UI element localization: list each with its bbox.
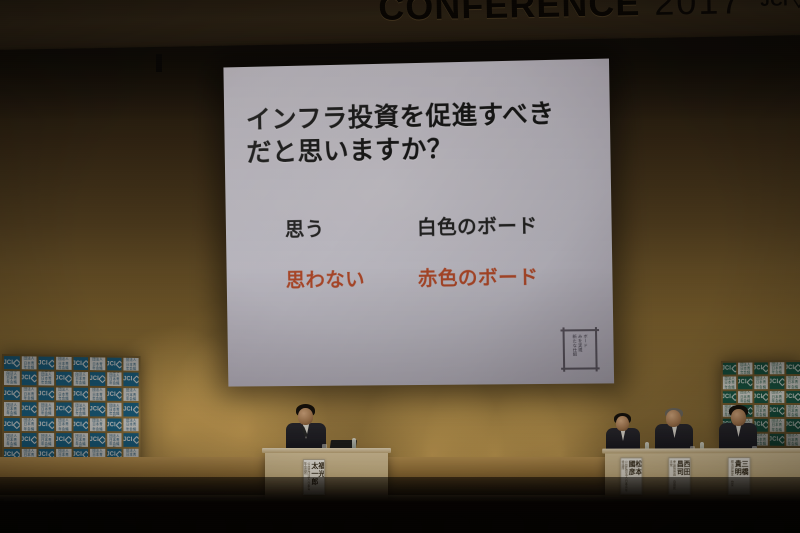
backdrop-jci-logo-tile: JCI	[4, 387, 19, 401]
answer-label-no: 思わない	[286, 262, 419, 293]
backdrop-jci-logo-tile: JCI	[4, 356, 19, 370]
diamond-emblem-icon	[82, 360, 88, 368]
backdrop-jci-logo-tile: JCI	[107, 358, 122, 371]
diamond-emblem-icon	[65, 405, 71, 413]
backdrop-jci-logo-tile: JCI	[723, 363, 737, 375]
backdrop-sponsor-tile: 公益社団法人 日本青年会議所	[4, 402, 19, 416]
backdrop-jci-logo-tile: JCI	[73, 418, 88, 431]
backdrop-sponsor-tile: 公益社団法人 日本青年会議所	[754, 377, 768, 389]
diamond-emblem-icon	[13, 359, 20, 367]
backdrop-sponsor-tile: 公益社団法人 日本青年会議所	[39, 403, 54, 416]
diamond-emblem-icon	[762, 393, 768, 401]
diamond-emblem-icon	[731, 365, 737, 373]
backdrop-sponsor-tile: 公益社団法人 日本青年会議所	[124, 388, 139, 401]
backdrop-sponsor-tile: 公益社団法人 日本青年会議所	[770, 391, 784, 403]
backdrop-sponsor-tile: 公益社団法人 日本青年会議所	[107, 403, 122, 416]
diamond-emblem-icon	[13, 390, 20, 398]
backdrop-jci-logo-tile: JCI	[107, 418, 122, 431]
diamond-emblem-icon	[48, 420, 54, 428]
board-label-red: 赤色のボード	[418, 260, 539, 291]
projection-screen: インフラ投資を促進すべき だと思いますか？ 思う 白色のボード 思わない 赤色の…	[223, 59, 614, 387]
backdrop-sponsor-tile: 公益社団法人 日本青年会議所	[73, 433, 88, 446]
plaque-column-2: みを実現	[578, 334, 583, 365]
jci-logo: JCI	[760, 0, 800, 11]
backdrop-jci-logo-tile: JCI	[39, 387, 54, 400]
lighting-truss	[156, 54, 162, 72]
backdrop-sponsor-tile: 公益社団法人 日本青年会議所	[21, 418, 36, 431]
backdrop-sponsor-tile: 公益社団法人 日本青年会議所	[73, 403, 88, 416]
backdrop-sponsor-tile: 公益社団法人 日本青年会議所	[738, 363, 752, 375]
backdrop-sponsor-tile: 公益社団法人 日本青年会議所	[754, 405, 768, 417]
diamond-emblem-icon	[731, 393, 737, 401]
diamond-emblem-icon	[794, 393, 800, 401]
backdrop-sponsor-tile: 公益社団法人 日本青年会議所	[4, 433, 19, 446]
slide-question: インフラ投資を促進すべき だと思いますか？	[246, 97, 595, 169]
conference-stage-photo: CONFERENCE 2017 JCI インフラ投資を促進すべき だと思いますか…	[0, 0, 800, 533]
backdrop-sponsor-tile: 公益社団法人 日本青年会議所	[56, 357, 71, 371]
slide-question-line1: インフラ投資を促進すべき	[246, 97, 594, 137]
diamond-emblem-icon	[13, 420, 20, 428]
diamond-emblem-icon	[791, 0, 800, 8]
diamond-emblem-icon	[48, 359, 54, 367]
slide-question-line2: だと思いますか？	[246, 130, 594, 169]
diamond-emblem-icon	[116, 421, 122, 429]
backdrop-jci-logo-tile: JCI	[754, 391, 768, 403]
backdrop-jci-logo-tile: JCI	[39, 357, 54, 371]
audience-silhouettes	[0, 477, 800, 533]
backdrop-jci-logo-tile: JCI	[786, 391, 800, 403]
backdrop-sponsor-tile: 公益社団法人 日本青年会議所	[39, 372, 54, 386]
backdrop-sponsor-tile: 公益社団法人 日本青年会議所	[90, 388, 105, 401]
backdrop-sponsor-tile: 公益社団法人 日本青年会議所	[90, 418, 105, 431]
diamond-emblem-icon	[82, 421, 88, 429]
banner-year: 2017	[654, 0, 743, 24]
diamond-emblem-icon	[778, 378, 784, 386]
backdrop-jci-logo-tile: JCI	[90, 433, 105, 446]
backdrop-jci-logo-tile: JCI	[21, 433, 36, 446]
backdrop-jci-logo-tile: JCI	[754, 362, 768, 374]
slide-plaque-logo: ボード みを実現 新たな仕組	[562, 327, 597, 372]
backdrop-jci-logo-tile: JCI	[770, 405, 784, 417]
backdrop-jci-logo-tile: JCI	[56, 433, 71, 446]
diamond-emblem-icon	[82, 390, 88, 398]
backdrop-sponsor-tile: 公益社団法人 日本青年会議所	[73, 372, 88, 385]
diamond-emblem-icon	[116, 390, 122, 398]
diamond-emblem-icon	[99, 436, 105, 444]
diamond-emblem-icon	[762, 421, 768, 429]
backdrop-jci-logo-tile: JCI	[21, 402, 36, 415]
diamond-emblem-icon	[30, 374, 36, 382]
diamond-emblem-icon	[30, 436, 36, 444]
backdrop-sponsor-tile: 公益社団法人 日本青年会議所	[124, 418, 139, 431]
diamond-emblem-icon	[99, 375, 105, 383]
backdrop-jci-logo-tile: JCI	[124, 403, 139, 416]
backdrop-jci-logo-tile: JCI	[4, 418, 19, 431]
plaque-column-3: 新たな仕組	[572, 334, 577, 365]
jci-logo-text: JCI	[760, 0, 788, 11]
backdrop-jci-logo-tile: JCI	[107, 388, 122, 401]
backdrop-sponsor-tile: 公益社団法人 日本青年会議所	[738, 391, 752, 403]
backdrop-jci-logo-tile: JCI	[770, 376, 784, 388]
backdrop-sponsor-tile: 公益社団法人 日本青年会議所	[723, 377, 737, 389]
backdrop-jci-logo-tile: JCI	[21, 372, 36, 386]
diamond-emblem-icon	[132, 406, 138, 414]
diamond-emblem-icon	[746, 379, 752, 387]
diamond-emblem-icon	[794, 364, 800, 372]
backdrop-jci-logo-tile: JCI	[723, 391, 737, 403]
diamond-emblem-icon	[778, 407, 784, 415]
backdrop-sponsor-tile: 公益社団法人 日本青年会議所	[786, 434, 800, 446]
backdrop-jci-logo-tile: JCI	[770, 433, 784, 445]
banner-title: CONFERENCE	[378, 0, 641, 29]
diamond-emblem-icon	[132, 375, 138, 383]
backdrop-jci-logo-tile: JCI	[73, 357, 88, 370]
backdrop-jci-logo-tile: JCI	[90, 403, 105, 416]
diamond-emblem-icon	[116, 360, 122, 368]
diamond-emblem-icon	[48, 390, 54, 398]
backdrop-sponsor-tile: 公益社団法人 日本青年会議所	[770, 362, 784, 374]
backdrop-jci-logo-tile: JCI	[786, 419, 800, 431]
backdrop-sponsor-tile: 公益社団法人 日本青年会議所	[4, 371, 19, 385]
diamond-emblem-icon	[794, 421, 800, 429]
diamond-emblem-icon	[132, 436, 138, 444]
backdrop-sponsor-tile: 公益社団法人 日本青年会議所	[21, 356, 36, 370]
backdrop-sponsor-tile: 公益社団法人 日本青年会議所	[56, 418, 71, 431]
backdrop-sponsor-tile: 公益社団法人 日本青年会議所	[107, 373, 122, 386]
backdrop-jci-logo-tile: JCI	[124, 373, 139, 386]
diamond-emblem-icon	[99, 405, 105, 413]
answer-option-no: 思わない 赤色のボード	[286, 260, 597, 293]
slide-answer-options: 思う 白色のボード 思わない 赤色のボード	[285, 208, 597, 314]
backdrop-jci-logo-tile: JCI	[90, 373, 105, 386]
board-label-white: 白色のボード	[417, 209, 538, 240]
backdrop-sponsor-tile: 公益社団法人 日本青年会議所	[786, 405, 800, 417]
backdrop-jci-logo-tile: JCI	[786, 362, 800, 374]
backdrop-sponsor-tile: 公益社団法人 日本青年会議所	[90, 357, 105, 370]
backdrop-sponsor-tile: 公益社団法人 日本青年会議所	[56, 387, 71, 400]
backdrop-jci-logo-tile: JCI	[124, 433, 139, 446]
backdrop-sponsor-tile: 公益社団法人 日本青年会議所	[21, 387, 36, 401]
backdrop-jci-logo-tile: JCI	[73, 388, 88, 401]
diamond-emblem-icon	[30, 405, 36, 413]
plaque-column-1: ボード	[583, 334, 588, 365]
backdrop-jci-logo-tile: JCI	[39, 418, 54, 431]
backdrop-sponsor-tile: 公益社団法人 日本青年会議所	[124, 358, 139, 371]
backdrop-jci-logo-tile: JCI	[738, 377, 752, 389]
backdrop-sponsor-tile: 公益社団法人 日本青年会議所	[107, 433, 122, 446]
backdrop-jci-logo-tile: JCI	[56, 403, 71, 416]
backdrop-jci-logo-tile: JCI	[56, 372, 71, 385]
answer-label-yes: 思う	[285, 211, 418, 242]
backdrop-sponsor-tile: 公益社団法人 日本青年会議所	[786, 376, 800, 388]
backdrop-sponsor-tile: 公益社団法人 日本青年会議所	[770, 419, 784, 431]
answer-option-yes: 思う 白色のボード	[285, 208, 596, 242]
backdrop-sponsor-tile: 公益社団法人 日本青年会議所	[39, 433, 54, 446]
diamond-emblem-icon	[778, 435, 784, 443]
diamond-emblem-icon	[762, 364, 768, 372]
diamond-emblem-icon	[65, 436, 71, 444]
diamond-emblem-icon	[65, 375, 71, 383]
